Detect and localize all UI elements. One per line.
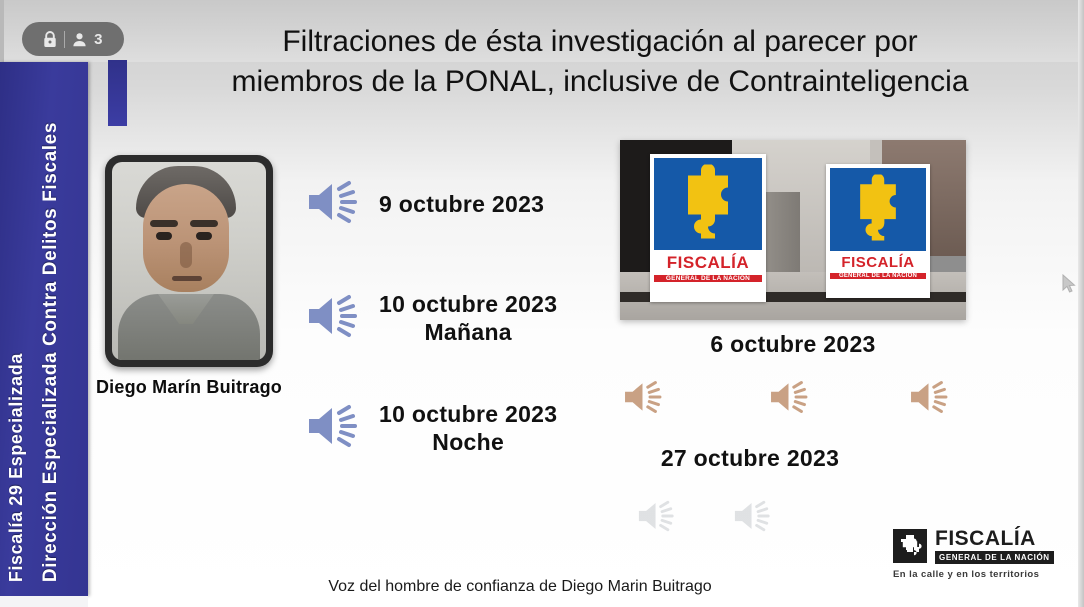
sidebar-bottom-gap: [0, 596, 88, 607]
slide-sidebar: Fiscalía 29 Especializada Dirección Espe…: [0, 62, 88, 596]
portrait-image: [112, 162, 266, 360]
fiscalia-blue-panel: [830, 168, 926, 251]
speaker-icon[interactable]: [305, 178, 363, 231]
puzzle-mark-icon: [893, 529, 927, 563]
sidebar-text-group: Fiscalía 29 Especializada Dirección Espe…: [0, 62, 88, 596]
meeting-privacy-badge[interactable]: 3: [22, 22, 124, 56]
corp-logo-tagline: En la calle y en los territorios: [893, 569, 1065, 580]
title-line-1: Filtraciones de ésta investigación al pa…: [282, 25, 917, 58]
title-line-2: miembros de la PONAL, inclusive de Contr…: [150, 62, 1050, 102]
lock-icon: [43, 31, 57, 48]
header-left-edge: [0, 0, 4, 62]
speaker-icon-tan-2[interactable]: [768, 378, 812, 416]
portrait-caption: Diego Marín Buitrago: [78, 377, 300, 398]
person-icon: [72, 32, 87, 47]
audio-item-3[interactable]: 10 octubre 2023 Noche: [305, 400, 557, 456]
corp-logo-title: FISCALÍA: [935, 528, 1054, 549]
audio-part-3: Noche: [379, 428, 557, 456]
sidebar-line-2: Dirección Especializada Contra Delitos F…: [40, 122, 62, 582]
bottom-caption: Voz del hombre de confianza de Diego Mar…: [200, 578, 840, 596]
audio-item-2[interactable]: 10 octubre 2023 Mañana: [305, 290, 557, 346]
speaker-icon-faded-1[interactable]: [636, 498, 678, 534]
fiscalia-sub-left: GENERAL DE LA NACIÓN: [654, 275, 762, 282]
participant-count: 3: [94, 31, 103, 48]
corp-logo-text: FISCALÍA GENERAL DE LA NACIÓN: [935, 528, 1054, 564]
audio-label-2: 10 octubre 2023 Mañana: [379, 290, 557, 346]
window-right-edge: [1078, 0, 1084, 607]
corp-logo-row: FISCALÍA GENERAL DE LA NACIÓN: [893, 528, 1065, 564]
accent-bar: [108, 60, 127, 126]
page-title: Filtraciones de ésta investigación al pa…: [150, 22, 1050, 101]
corp-logo-subtitle: GENERAL DE LA NACIÓN: [935, 551, 1054, 564]
mouse-cursor-icon: [1062, 274, 1076, 299]
portrait-frame: [105, 155, 273, 367]
puzzle-piece-icon: [677, 165, 739, 244]
portrait-photo: [105, 155, 273, 367]
fiscalia-blue-panel: [654, 158, 762, 250]
badge-divider: [64, 31, 65, 48]
right-audio-date: 27 octubre 2023: [600, 445, 900, 472]
speaker-icon-faded-2[interactable]: [732, 498, 774, 534]
audio-date-3: 10 octubre 2023: [379, 401, 557, 427]
audio-part-2: Mañana: [379, 318, 557, 346]
audio-item-1[interactable]: 9 octubre 2023: [305, 178, 544, 231]
audio-date-2: 10 octubre 2023: [379, 291, 557, 317]
slide-canvas: 3 Filtraciones de ésta investigación al …: [0, 0, 1084, 607]
fiscalia-banner-right: FISCALÍA GENERAL DE LA NACIÓN: [826, 164, 930, 298]
speaker-icon[interactable]: [305, 292, 363, 345]
fiscalia-corporate-logo: FISCALÍA GENERAL DE LA NACIÓN En la call…: [893, 528, 1065, 584]
fiscalia-name-right: FISCALÍA: [830, 254, 926, 271]
sidebar-line-1: Fiscalía 29 Especializada: [6, 353, 27, 582]
speaker-icon[interactable]: [305, 402, 363, 455]
audio-label-3: 10 octubre 2023 Noche: [379, 400, 557, 456]
video-still: FISCALÍA GENERAL DE LA NACIÓN FISCALÍA G…: [620, 140, 966, 320]
fiscalia-name-left: FISCALÍA: [654, 253, 762, 273]
speaker-icon-tan-3[interactable]: [908, 378, 952, 416]
fiscalia-sub-right: GENERAL DE LA NACIÓN: [830, 273, 926, 279]
puzzle-piece-icon: [850, 174, 906, 245]
fiscalia-banner-left: FISCALÍA GENERAL DE LA NACIÓN: [650, 154, 766, 302]
audio-date-1: 9 octubre 2023: [379, 190, 544, 218]
video-date: 6 octubre 2023: [620, 331, 966, 358]
speaker-icon-tan-1[interactable]: [622, 378, 666, 416]
